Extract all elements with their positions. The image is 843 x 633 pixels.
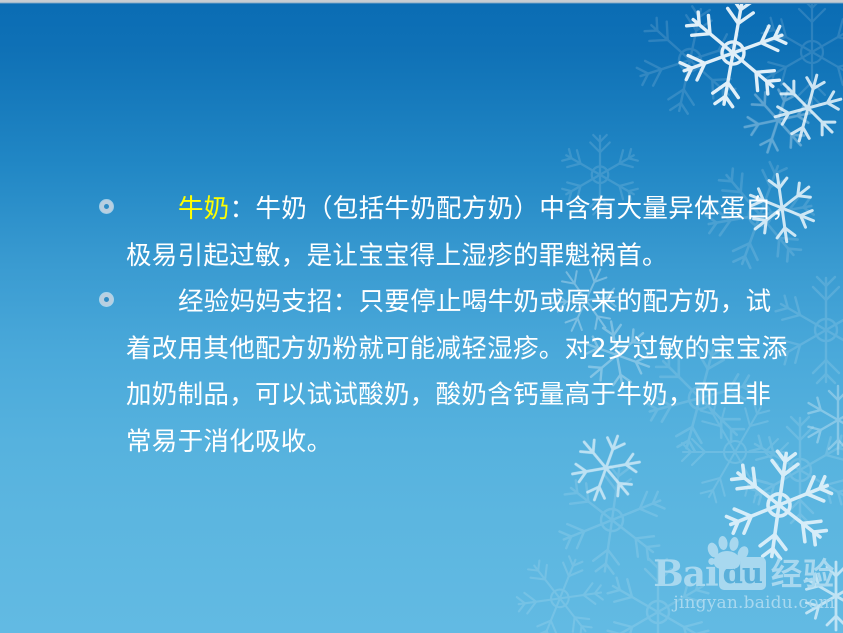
baidu-paw-icon [705,536,749,570]
text-line: 着改用其他配方奶粉就可能减轻湿疹。对2岁过敏的宝宝添 [126,326,796,373]
text-run: 经验妈妈支招：只要停止喝牛奶或原来的配方奶，试 [178,287,771,317]
ring-bullet-icon [100,200,113,213]
text-run: 加奶制品，可以试试酸奶，酸奶含钙量高于牛奶，而且非 [126,380,771,410]
bullet-paragraph-milk-lines: 牛奶：牛奶（包括牛奶配方奶）中含有大量异体蛋白， 极易引起过敏，是让宝宝得上湿疹… [96,186,796,279]
slide-top-edge-strip [0,0,843,4]
text-line: 加奶制品，可以试试酸奶，酸奶含钙量高于牛奶，而且非 [126,372,796,419]
bullet-paragraph-milk: 牛奶：牛奶（包括牛奶配方奶）中含有大量异体蛋白， 极易引起过敏，是让宝宝得上湿疹… [96,186,796,279]
text-line: 经验妈妈支招：只要停止喝牛奶或原来的配方奶，试 [126,279,796,326]
ring-bullet-icon [100,293,113,306]
text-line: 极易引起过敏，是让宝宝得上湿疹的罪魁祸首。 [126,233,796,280]
presentation-slide: 牛奶：牛奶（包括牛奶配方奶）中含有大量异体蛋白， 极易引起过敏，是让宝宝得上湿疹… [0,0,843,633]
highlighted-keyword: 牛奶 [178,194,230,224]
text-run: ：牛奶（包括牛奶配方奶）中含有大量异体蛋白， [230,194,798,224]
watermark-jingyan-text: 经验 [771,558,835,592]
text-line: 常易于消化吸收。 [126,419,796,466]
text-line: 牛奶：牛奶（包括牛奶配方奶）中含有大量异体蛋白， [126,186,796,233]
bullet-paragraph-advice: 经验妈妈支招：只要停止喝牛奶或原来的配方奶，试 着改用其他配方奶粉就可能减轻湿疹… [96,279,796,465]
bullet-paragraph-advice-lines: 经验妈妈支招：只要停止喝牛奶或原来的配方奶，试 着改用其他配方奶粉就可能减轻湿疹… [96,279,796,465]
text-run: 极易引起过敏，是让宝宝得上湿疹的罪魁祸首。 [126,241,668,271]
text-run: 常易于消化吸收。 [126,427,332,457]
text-run: 着改用其他配方奶粉就可能减轻湿疹。对2岁过敏的宝宝添 [126,334,788,364]
watermark-url: jingyan.baidu.com [653,593,835,613]
watermark-logo-row: Baidu经验 [653,552,835,592]
baidu-jingyan-watermark: Baidu经验 jingyan.baidu.com [653,552,835,613]
